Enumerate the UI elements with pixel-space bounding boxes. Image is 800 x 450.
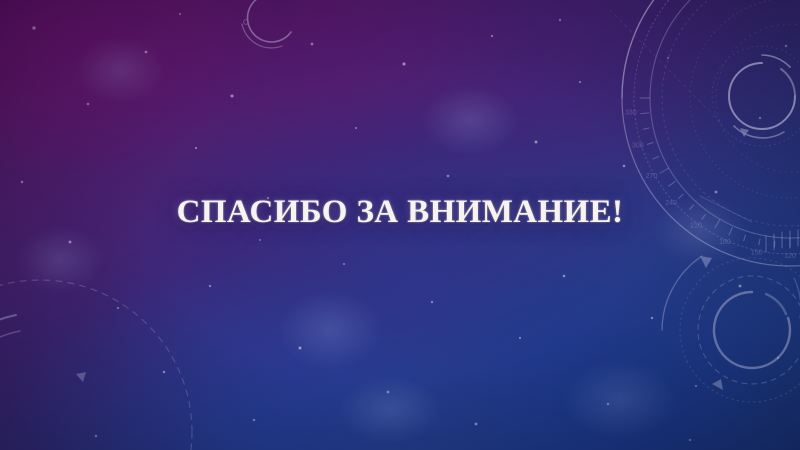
hud-dial-bottom-left xyxy=(0,280,192,450)
slide-title: СПАСИБО ЗА ВНИМАНИЕ! xyxy=(177,196,624,229)
svg-text:180: 180 xyxy=(719,239,731,246)
svg-text:120: 120 xyxy=(784,253,796,260)
presentation-slide: 330 300 270 240 210 180 150 120 90 60 30 xyxy=(0,0,800,450)
hud-ticks-right-edge xyxy=(766,230,798,252)
svg-text:300: 300 xyxy=(632,142,644,149)
hud-ring-small-top xyxy=(242,0,291,48)
svg-text:150: 150 xyxy=(751,250,763,257)
hud-dial-bottom-right xyxy=(662,256,800,402)
svg-text:270: 270 xyxy=(646,173,658,180)
hud-ring-inner-top-right xyxy=(712,46,800,146)
title-container: СПАСИБО ЗА ВНИМАНИЕ! xyxy=(0,196,800,229)
svg-text:330: 330 xyxy=(625,110,637,117)
